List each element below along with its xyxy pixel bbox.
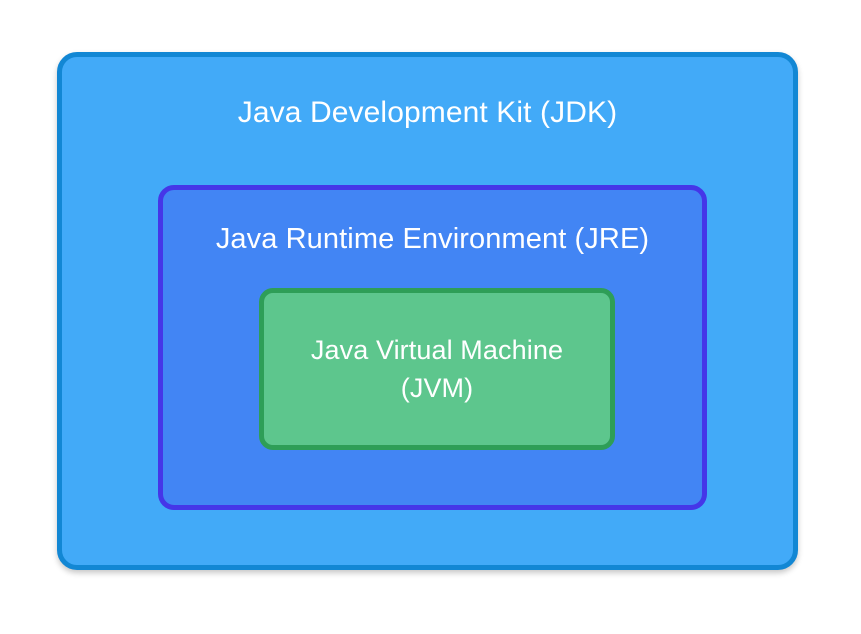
jdk-label: Java Development Kit (JDK) [62,95,793,131]
jvm-label-line2: (JVM) [401,373,473,403]
jdk-container-box: Java Development Kit (JDK) Java Runtime … [57,52,798,570]
jvm-label: Java Virtual Machine(JVM) [297,331,577,408]
jvm-label-line1: Java Virtual Machine [311,335,563,365]
jvm-container-box: Java Virtual Machine(JVM) [259,288,615,450]
jre-container-box: Java Runtime Environment (JRE) Java Virt… [158,185,707,510]
jre-label: Java Runtime Environment (JRE) [163,222,702,257]
diagram-canvas: Java Development Kit (JDK) Java Runtime … [0,0,861,634]
